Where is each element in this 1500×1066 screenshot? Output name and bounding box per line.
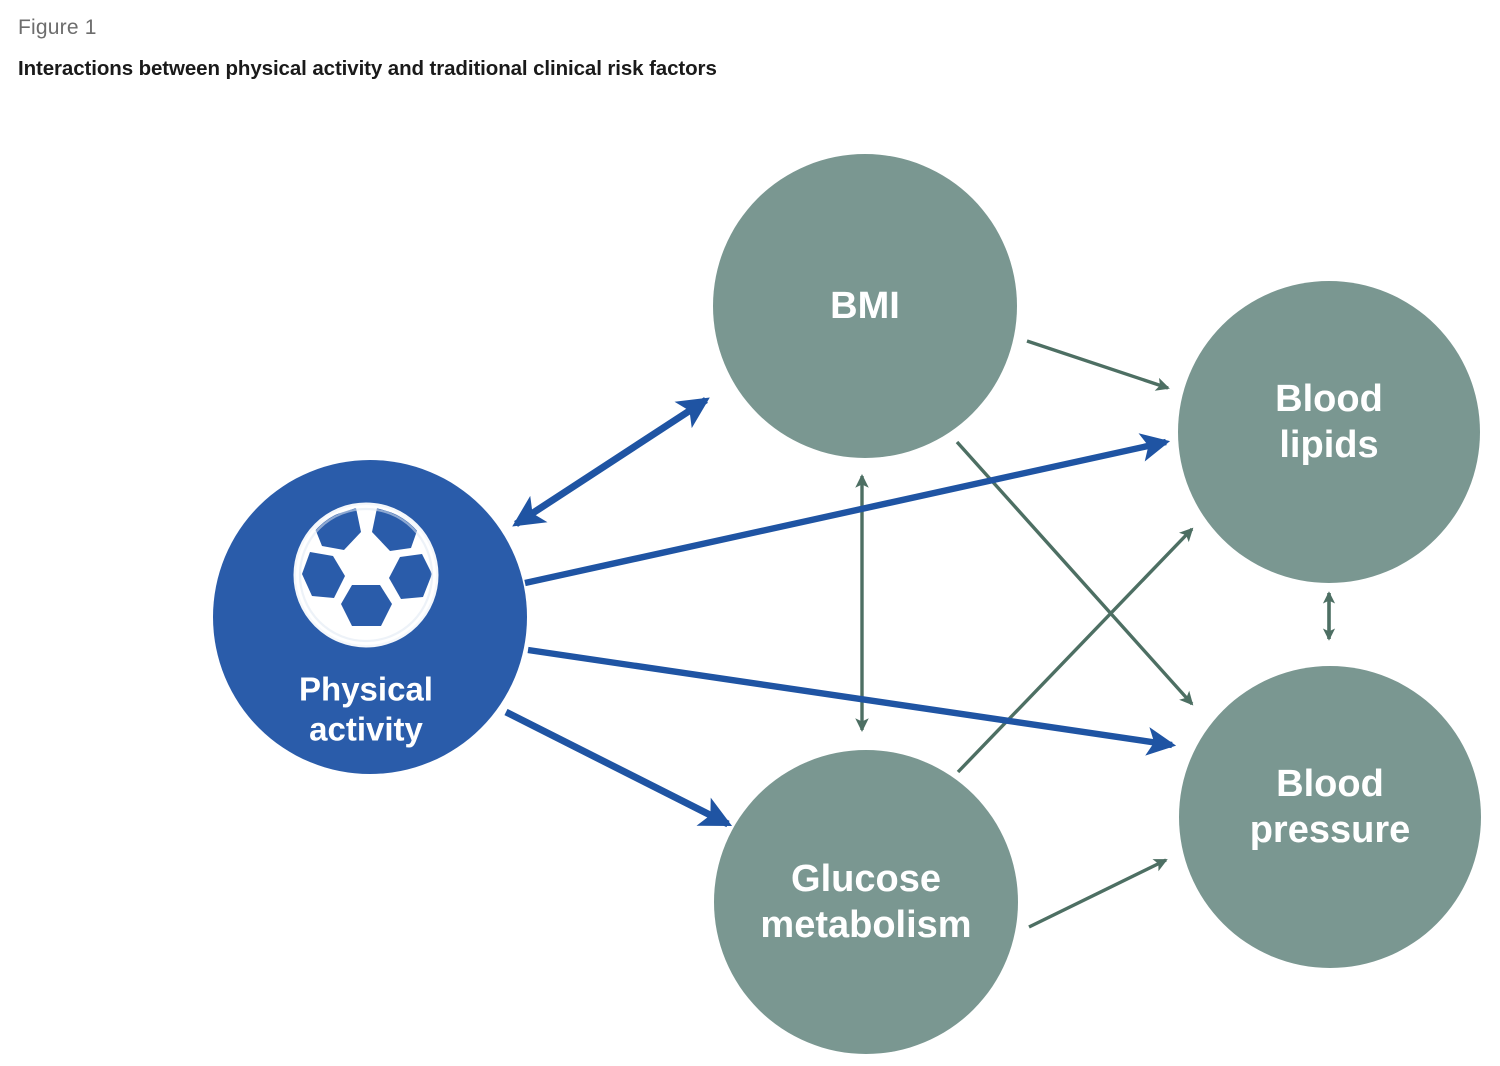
edge-glucose-lipids bbox=[958, 529, 1192, 772]
node-layer: BMI Blood lipids Blood pressure Glucose … bbox=[213, 154, 1481, 1054]
edge-bmi-lipids bbox=[1027, 341, 1168, 388]
node-blood-pressure-label-line1: Blood bbox=[1276, 763, 1384, 805]
node-blood-lipids[interactable]: Blood lipids bbox=[1178, 281, 1480, 583]
soccer-ball-icon bbox=[296, 505, 436, 645]
edge-pa-glucose bbox=[506, 712, 728, 824]
edge-pa-pressure bbox=[528, 650, 1172, 745]
node-glucose-metabolism-circle bbox=[714, 750, 1018, 1054]
node-glucose-metabolism-label-line2: metabolism bbox=[760, 904, 971, 946]
figure-number-label: Figure 1 bbox=[18, 16, 97, 40]
figure-container: Figure 1 Interactions between physical a… bbox=[0, 0, 1500, 1066]
interaction-diagram: BMI Blood lipids Blood pressure Glucose … bbox=[0, 104, 1500, 1066]
node-blood-lipids-label-line2: lipids bbox=[1279, 424, 1378, 466]
node-glucose-metabolism[interactable]: Glucose metabolism bbox=[714, 750, 1018, 1054]
edge-pa-bmi bbox=[516, 400, 706, 524]
edge-pa-lipids bbox=[525, 442, 1166, 583]
node-physical-activity-label-line2: activity bbox=[309, 711, 423, 748]
node-blood-lipids-label-line1: Blood bbox=[1275, 378, 1383, 420]
node-physical-activity-label-line1: Physical bbox=[299, 671, 433, 708]
node-glucose-metabolism-label-line1: Glucose bbox=[791, 858, 941, 900]
edge-glucose-pressure bbox=[1029, 860, 1166, 927]
node-bmi-label: BMI bbox=[830, 285, 900, 327]
node-bmi[interactable]: BMI bbox=[713, 154, 1017, 458]
node-physical-activity[interactable]: Physical activity bbox=[213, 460, 527, 774]
node-blood-pressure-label-line2: pressure bbox=[1250, 809, 1411, 851]
figure-title: Interactions between physical activity a… bbox=[18, 57, 717, 81]
node-blood-pressure[interactable]: Blood pressure bbox=[1179, 666, 1481, 968]
